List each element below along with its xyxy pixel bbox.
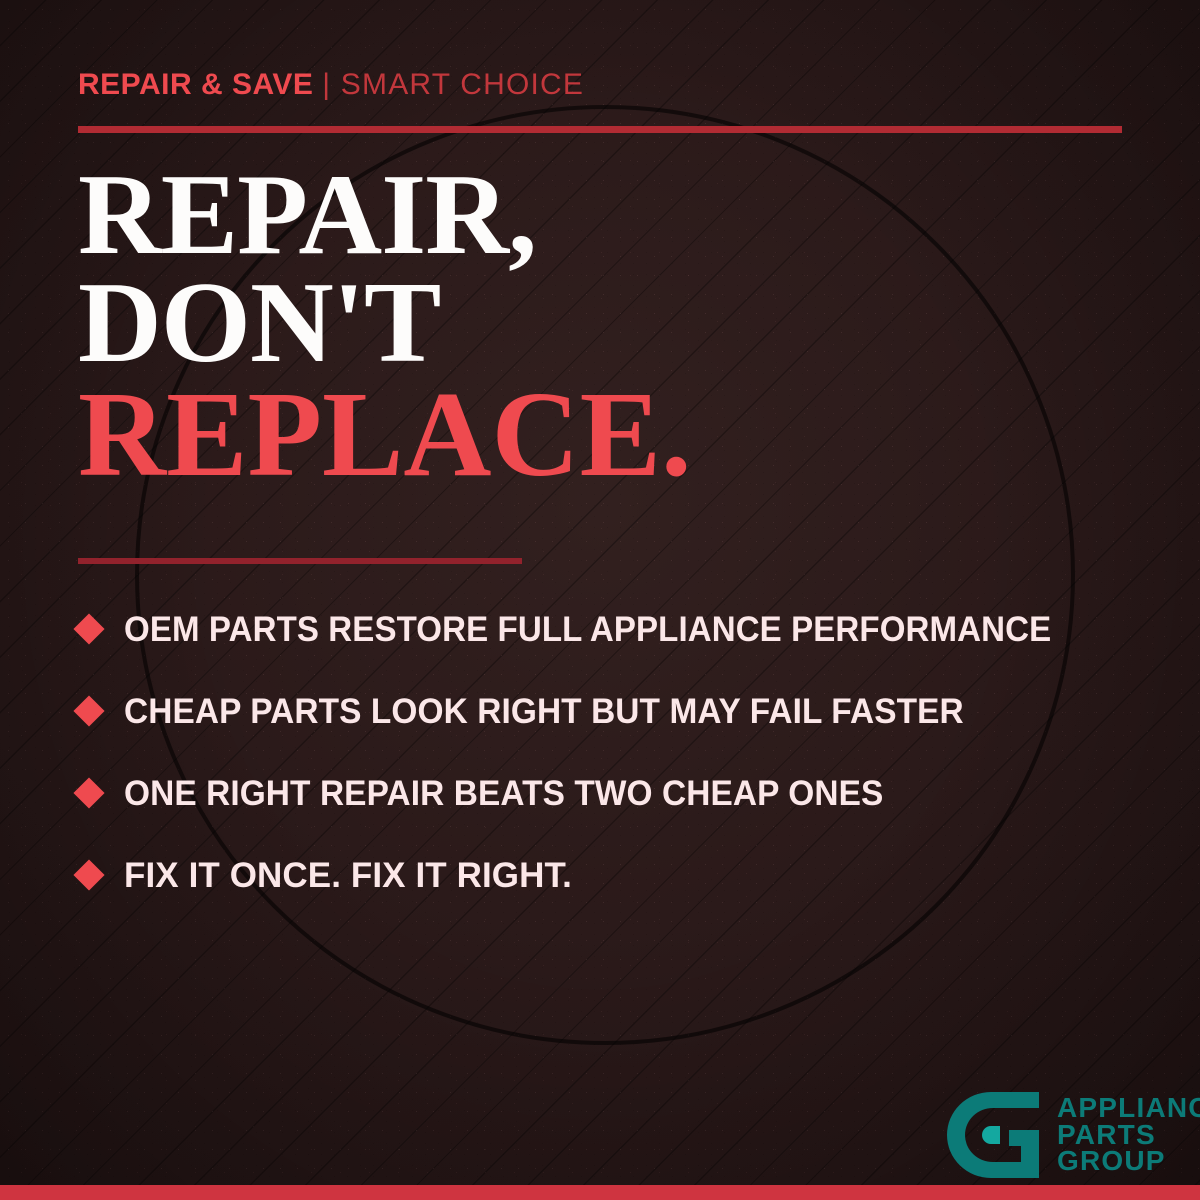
footer-accent-bar [0,1185,1200,1200]
list-item: FIX IT ONCE. FIX IT RIGHT. [78,834,1148,916]
headline-line-1: REPAIR, [78,162,691,270]
list-item-label: CHEAP PARTS LOOK RIGHT BUT MAY FAIL FAST… [124,694,964,729]
benefit-list: OEM PARTS RESTORE FULL APPLIANCE PERFORM… [78,588,1148,916]
header-divider-rule [78,126,1122,133]
headline: REPAIR, DON'T REPLACE. [78,162,691,491]
headline-line-3: REPLACE. [78,378,691,491]
list-item: CHEAP PARTS LOOK RIGHT BUT MAY FAIL FAST… [78,670,1148,752]
diamond-bullet-icon [73,777,104,808]
g-monogram-icon [947,1092,1043,1178]
diamond-bullet-icon [73,613,104,644]
brand-logo: APPLIANCE PARTS GROUP [947,1092,1200,1178]
list-item-label: ONE RIGHT REPAIR BEATS TWO CHEAP ONES [124,776,883,811]
brand-word-line-3: GROUP [1057,1148,1200,1175]
headline-line-2: DON'T [78,270,691,378]
kicker-eyebrow: REPAIR & SAVE | SMART CHOICE [78,70,584,100]
list-item: ONE RIGHT REPAIR BEATS TWO CHEAP ONES [78,752,1148,834]
brand-word-line-2: PARTS [1057,1122,1200,1149]
kicker-light-text: | SMART CHOICE [322,68,584,101]
diamond-bullet-icon [73,695,104,726]
diamond-bullet-icon [73,859,104,890]
list-item-label: FIX IT ONCE. FIX IT RIGHT. [124,858,572,893]
brand-logo-wordmark: APPLIANCE PARTS GROUP [1057,1095,1200,1176]
promo-poster: REPAIR & SAVE | SMART CHOICE REPAIR, DON… [0,0,1200,1200]
list-item: OEM PARTS RESTORE FULL APPLIANCE PERFORM… [78,588,1148,670]
list-item-label: OEM PARTS RESTORE FULL APPLIANCE PERFORM… [124,612,1051,647]
headline-divider-rule [78,558,522,564]
kicker-strong-text: REPAIR & SAVE [78,68,313,101]
poster-content: REPAIR & SAVE | SMART CHOICE REPAIR, DON… [0,0,1200,1200]
brand-word-line-1: APPLIANCE [1057,1095,1200,1122]
